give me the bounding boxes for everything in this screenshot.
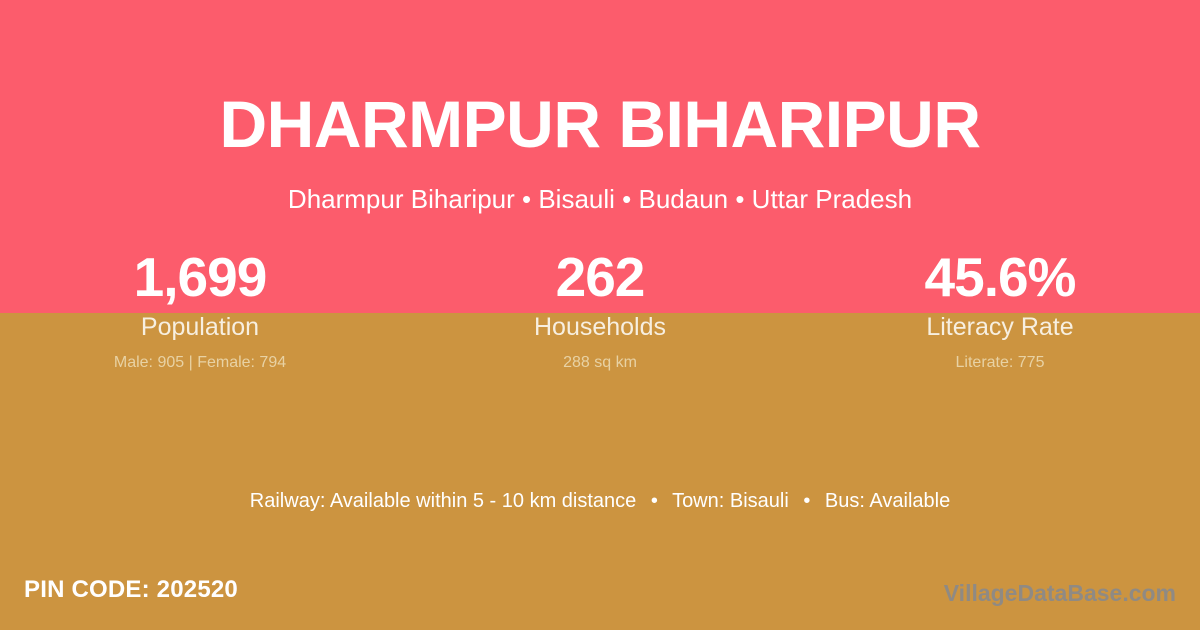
stat-population-value: 1,699 xyxy=(0,246,400,308)
stat-literacy-rate-label: Literacy Rate xyxy=(800,310,1200,344)
stats-row: 1,699 Population Male: 905 | Female: 794… xyxy=(0,246,1200,374)
breadcrumb: Dharmpur Biharipur • Bisauli • Budaun • … xyxy=(0,183,1200,215)
stat-population-label: Population xyxy=(0,310,400,344)
amenity-separator-2: • xyxy=(794,487,819,515)
stat-households-label: Households xyxy=(400,310,800,344)
stat-population: 1,699 Population Male: 905 | Female: 794 xyxy=(0,246,400,374)
amenity-bus: Bus: Available xyxy=(825,490,950,512)
site-watermark: VillageDataBase.com xyxy=(944,578,1176,608)
pin-code: PIN CODE: 202520 xyxy=(24,574,238,606)
amenity-railway: Railway: Available within 5 - 10 km dist… xyxy=(250,490,636,512)
stat-households: 262 Households 288 sq km xyxy=(400,246,800,374)
amenities-line: Railway: Available within 5 - 10 km dist… xyxy=(0,487,1200,515)
village-info-card: DHARMPUR BIHARIPUR Dharmpur Biharipur • … xyxy=(0,0,1200,630)
page-title: DHARMPUR BIHARIPUR xyxy=(0,88,1200,160)
stat-households-value: 262 xyxy=(400,246,800,308)
stat-population-sub: Male: 905 | Female: 794 xyxy=(0,352,400,374)
amenity-town: Town: Bisauli xyxy=(672,490,789,512)
stat-literacy-rate-value: 45.6% xyxy=(800,246,1200,308)
amenity-separator-1: • xyxy=(642,487,667,515)
stat-literacy-rate-sub: Literate: 775 xyxy=(800,352,1200,374)
stat-households-sub: 288 sq km xyxy=(400,352,800,374)
stat-literacy-rate: 45.6% Literacy Rate Literate: 775 xyxy=(800,246,1200,374)
